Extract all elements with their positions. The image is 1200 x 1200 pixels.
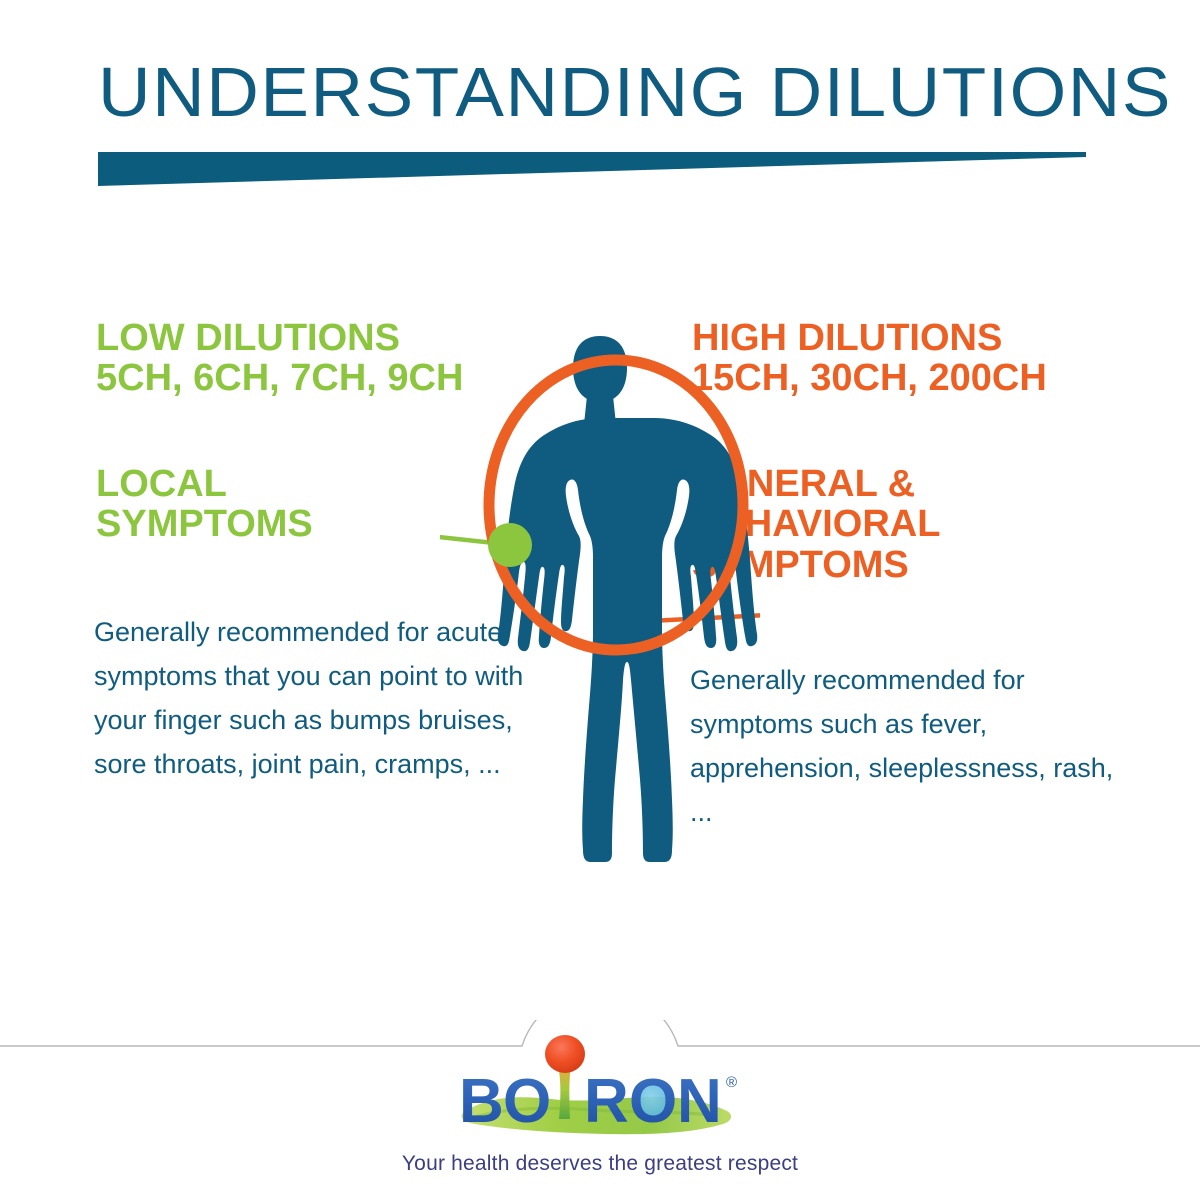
- boiron-logo[interactable]: B O R O N ®: [455, 1035, 745, 1140]
- infographic-canvas: UNDERSTANDING DILUTIONS LOW DILUTIONS 5C…: [0, 0, 1200, 1200]
- local-symptoms-heading: LOCAL SYMPTOMS: [96, 464, 313, 545]
- logo-letter-r: R: [584, 1067, 630, 1136]
- registered-trademark-mark: ®: [726, 1074, 737, 1091]
- logo-letter-o2: O: [629, 1067, 678, 1136]
- brand-tagline: Your health deserves the greatest respec…: [0, 1152, 1200, 1176]
- page-title: UNDERSTANDING DILUTIONS: [98, 55, 1148, 129]
- logo-letter-n: N: [677, 1067, 723, 1136]
- low-dilutions-heading: LOW DILUTIONS 5CH, 6CH, 7CH, 9CH: [96, 318, 463, 399]
- logo-letter-o1: O: [503, 1067, 552, 1136]
- flower-stem-icon: [558, 1065, 571, 1119]
- title-underline-wedge: [98, 152, 1086, 186]
- body-illustration: [440, 330, 760, 890]
- local-symptom-marker-dot: [488, 523, 532, 567]
- logo-letter-b: B: [459, 1067, 505, 1136]
- boiron-wordmark: B O R O N: [459, 1067, 723, 1136]
